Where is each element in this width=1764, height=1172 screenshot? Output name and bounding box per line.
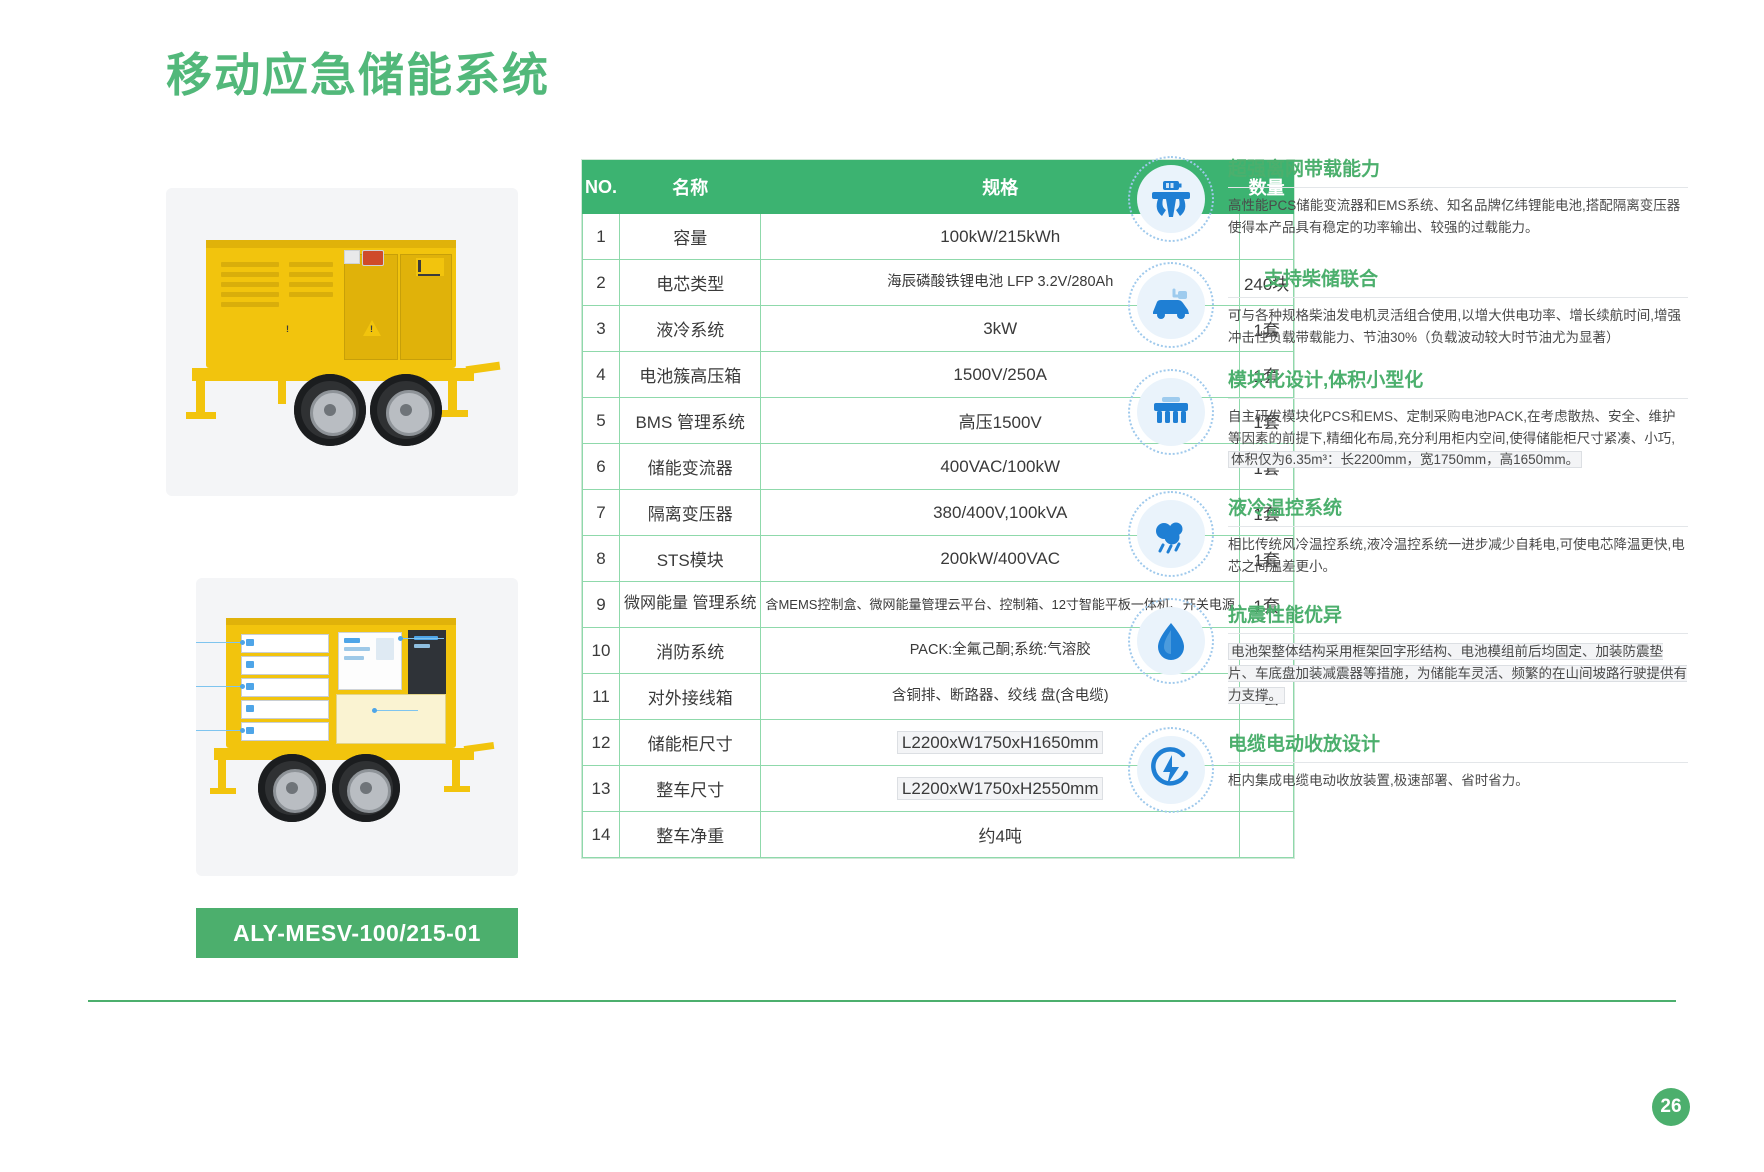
feature-item: 超强离网带载能力 高性能PCS储能变流器和EMS系统、知名品牌亿纬锂能电池,搭配… [1128,152,1688,242]
feature-item: 抗震性能优异 电池架整体结构采用框架回字形结构、电池模组前后均固定、加装防震垫片… [1128,594,1688,707]
cell-name: BMS 管理系统 [620,398,761,444]
model-badge: ALY-MESV-100/215-01 [196,908,518,958]
cell-no: 11 [583,674,620,720]
feature-title: 模块化设计,体积小型化 [1228,365,1688,392]
cell-no: 14 [583,812,620,858]
cell-name: 隔离变压器 [620,490,761,536]
cell-no: 6 [583,444,620,490]
cell-no: 2 [583,260,620,306]
product-photo-exterior [166,188,518,496]
feature-divider [1228,187,1688,188]
cell-no: 1 [583,214,620,260]
feature-text: 柜内集成电缆电动收放装置,极速部署、省时省力。 [1228,770,1688,792]
feature-text: 高性能PCS储能变流器和EMS系统、知名品牌亿纬锂能电池,搭配隔离变压器使得本产… [1228,195,1688,239]
diesel-hybrid-car-icon [1128,262,1214,348]
battery-offgrid-icon [1128,156,1214,242]
cell-no: 10 [583,628,620,674]
feature-title: 支持柴储联合 [1264,264,1688,291]
header-name: 名称 [620,161,761,214]
cell-name: STS模块 [620,536,761,582]
cell-name: 整车净重 [620,812,761,858]
feature-title: 液冷温控系统 [1228,493,1688,520]
feature-item: 支持柴储联合 可与各种规格柴油发电机灵活组合使用,以增大供电功率、增长续航时间,… [1128,258,1688,349]
cell-name: 消防系统 [620,628,761,674]
cell-no: 5 [583,398,620,444]
shock-resistance-icon [1128,598,1214,684]
feature-text: 电池架整体结构采用框架回字形结构、电池模组前后均固定、加装防震垫片、车底盘加装减… [1228,641,1688,707]
feature-text-main: 自主研发模块化PCS和EMS、定制采购电池PACK,在考虑散热、安全、维护等因素… [1228,409,1676,446]
page-title: 移动应急储能系统 [166,48,550,103]
cell-name: 微网能量 管理系统 [620,582,761,628]
feature-list: 超强离网带载能力 高性能PCS储能变流器和EMS系统、知名品牌亿纬锂能电池,搭配… [1128,152,1688,829]
feature-divider [1228,526,1688,527]
cell-no: 8 [583,536,620,582]
cell-no: 3 [583,306,620,352]
cell-name: 电池簇高压箱 [620,352,761,398]
slide-root: 移动应急储能系统 [0,0,1764,1172]
feature-divider [1228,762,1688,763]
modular-design-icon [1128,369,1214,455]
cell-spec-text: L2200xW1750xH2550mm [897,777,1104,800]
cell-name: 对外接线箱 [620,674,761,720]
trailer-exterior-illustration [166,188,518,496]
feature-divider [1228,398,1688,399]
feature-item: 模块化设计,体积小型化 自主研发模块化PCS和EMS、定制采购电池PACK,在考… [1128,365,1688,472]
feature-title: 抗震性能优异 [1228,600,1688,627]
product-photo-interior [196,578,518,876]
liquid-cooling-icon [1128,491,1214,577]
feature-text: 相比传统风冷温控系统,液冷温控系统一进步减少自耗电,可使电芯降温更快,电芯之间温… [1228,534,1688,578]
cell-name: 整车尺寸 [620,766,761,812]
feature-title: 电缆电动收放设计 [1228,729,1688,756]
feature-text-highlight: 电池架整体结构采用框架回字形结构、电池模组前后均固定、加装防震垫片、车底盘加装减… [1228,643,1687,704]
cell-name: 容量 [620,214,761,260]
cell-name: 储能变流器 [620,444,761,490]
cell-no: 9 [583,582,620,628]
feature-item: 液冷温控系统 相比传统风冷温控系统,液冷温控系统一进步减少自耗电,可使电芯降温更… [1128,487,1688,578]
feature-text-highlight: 体积仅为6.35m³：长2200mm，宽1750mm，高1650mm。 [1228,451,1582,468]
cell-name: 液冷系统 [620,306,761,352]
feature-divider [1228,633,1688,634]
feature-text: 自主研发模块化PCS和EMS、定制采购电池PACK,在考虑散热、安全、维护等因素… [1228,406,1688,472]
feature-item: 电缆电动收放设计 柜内集成电缆电动收放装置,极速部署、省时省力。 [1128,723,1688,813]
feature-text: 可与各种规格柴油发电机灵活组合使用,以增大供电功率、增长续航时间,增强冲击性负载… [1228,305,1688,349]
cell-no: 13 [583,766,620,812]
page-number-badge: 26 [1652,1088,1690,1126]
cell-name: 电芯类型 [620,260,761,306]
cell-name: 储能柜尺寸 [620,720,761,766]
cell-no: 4 [583,352,620,398]
cable-reel-icon [1128,727,1214,813]
feature-title: 超强离网带载能力 [1228,154,1688,181]
cell-spec-text: L2200xW1750xH1650mm [897,731,1104,754]
trailer-interior-illustration [196,578,518,876]
feature-divider [1228,297,1688,298]
cell-no: 12 [583,720,620,766]
header-no: NO. [583,161,620,214]
cell-no: 7 [583,490,620,536]
bottom-divider [88,1000,1676,1002]
